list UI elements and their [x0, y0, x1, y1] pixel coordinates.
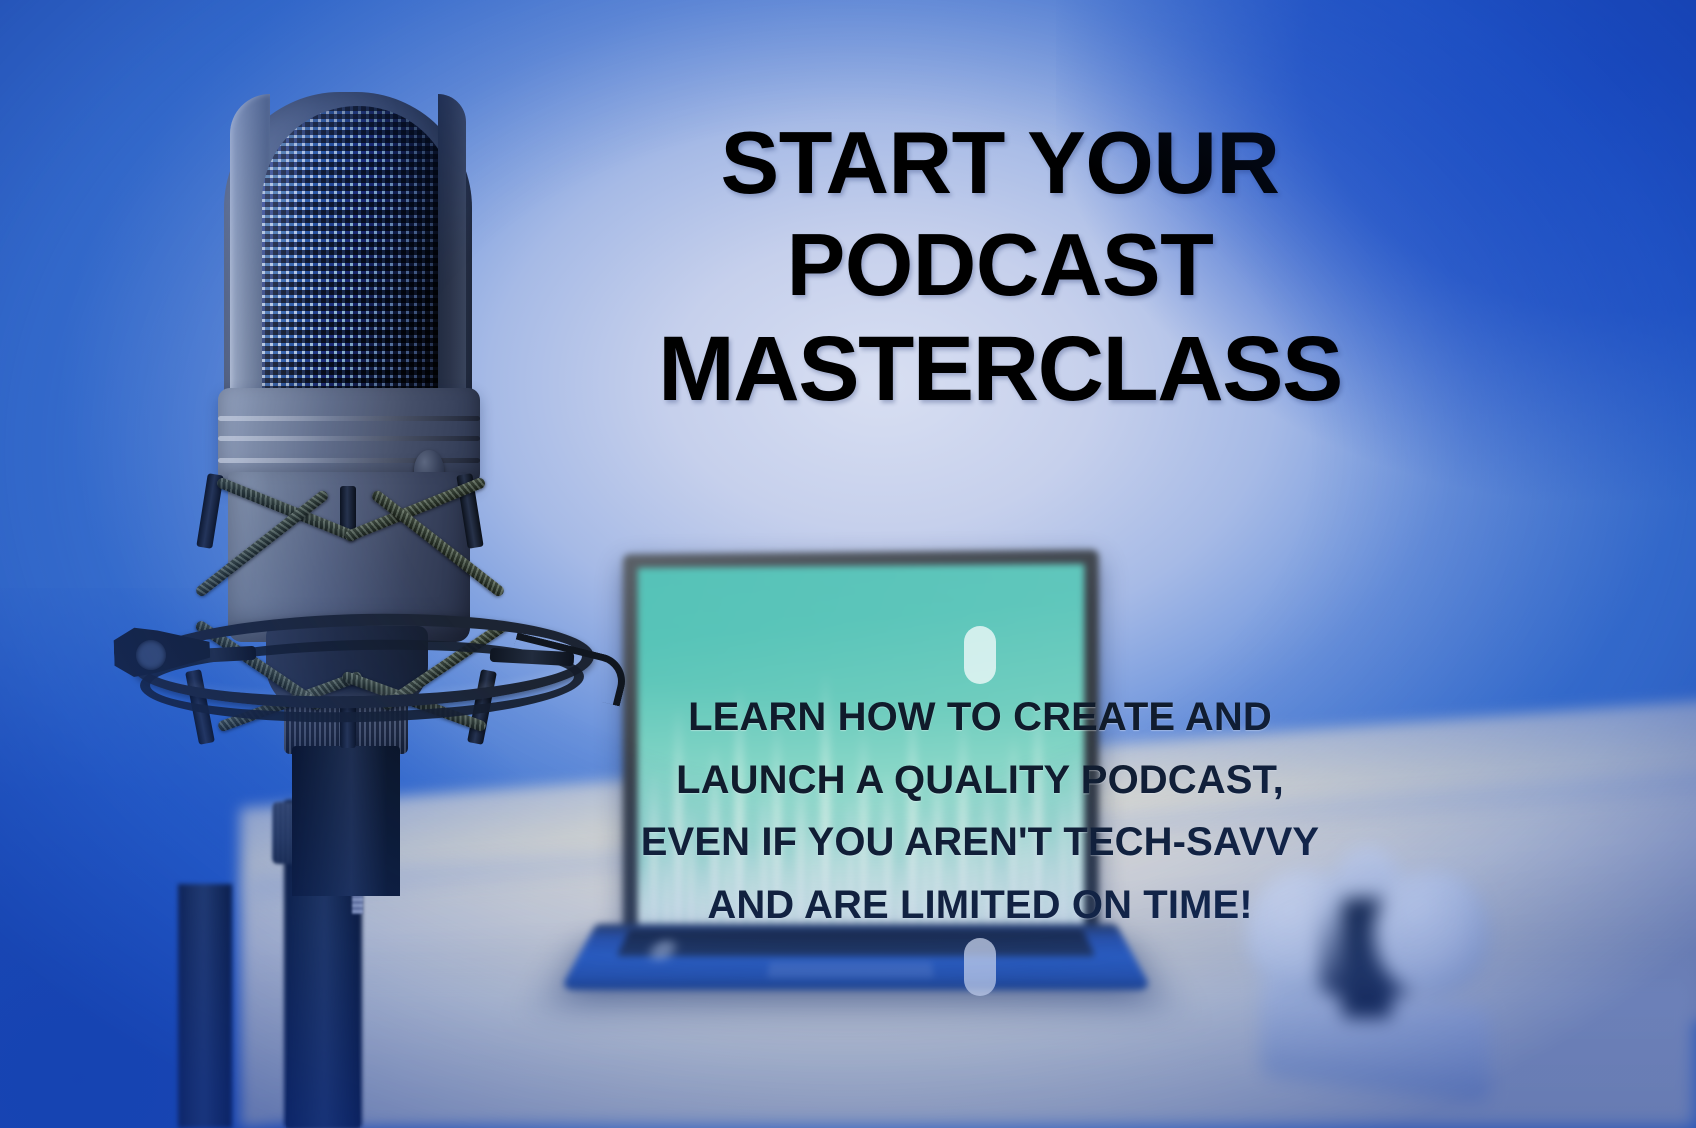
subtitle-line-3: EVEN IF YOU AREN'T TECH-SAVVY — [560, 811, 1400, 873]
condenser-microphone — [118, 92, 588, 892]
subtitle-line-2: LAUNCH A QUALITY PODCAST, — [560, 749, 1400, 811]
title-line-3: MASTERCLASS — [620, 316, 1380, 423]
microphone-head — [224, 92, 472, 402]
shock-mount — [118, 464, 588, 774]
podcast-masterclass-poster: START YOUR PODCAST MASTERCLASS LEARN HOW… — [0, 0, 1696, 1128]
title-line-2: PODCAST — [620, 214, 1380, 316]
microphone-rim-right — [438, 94, 466, 400]
microphone-grille-shading — [262, 106, 454, 402]
poster-title: START YOUR PODCAST MASTERCLASS — [620, 112, 1380, 423]
title-line-1: START YOUR — [620, 112, 1380, 214]
subtitle-line-1: LEARN HOW TO CREATE AND — [560, 686, 1400, 748]
microphone-grille — [262, 106, 454, 402]
microphone-ring-1 — [218, 416, 480, 421]
subtitle-line-4: AND ARE LIMITED ON TIME! — [560, 874, 1400, 936]
shock-mount-eyelet — [136, 640, 166, 670]
microphone-ring-2 — [218, 436, 480, 441]
mic-stand-rear-pole — [178, 884, 232, 1128]
subtitle-highlight-text: LEARN HOW TO CREATE ANDLAUNCH A QUALITY … — [560, 626, 1400, 996]
poster-subtitle: LEARN HOW TO CREATE ANDLAUNCH A QUALITY … — [560, 624, 1400, 998]
shock-mount-elastic-1 — [215, 476, 358, 542]
